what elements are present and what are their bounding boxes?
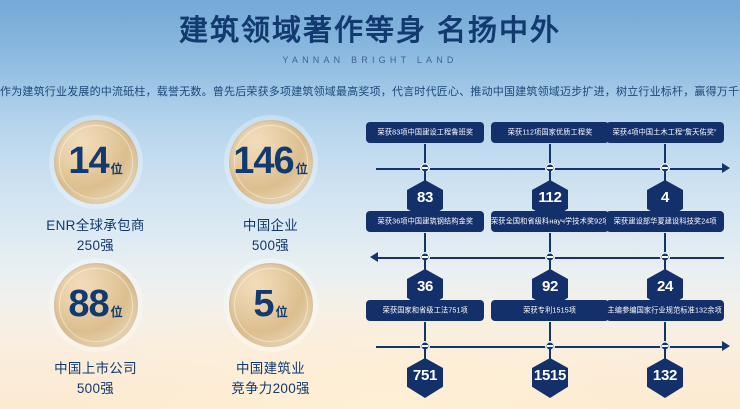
stat-label-line2: 250强 (46, 236, 144, 256)
award-card: 荣获建设部华夏建设科技奖24项 (606, 211, 724, 232)
award-badge: 132 (647, 358, 683, 398)
stat-item: 146 位 中国企业 500强 (183, 120, 358, 263)
award-card-text: 荣获全国和省级科науч学技术奖92项 (491, 216, 610, 226)
stat-label: ENR全球承包商 250强 (46, 216, 144, 256)
award-badge-value: 1515 (534, 367, 566, 384)
stat-label-line1: 中国建筑业 (231, 359, 310, 379)
timeline-node[interactable]: 主编参编国家行业规范标准132余项 132 (606, 300, 724, 321)
stat-label-line2: 500强 (243, 236, 298, 256)
stat-unit: 位 (276, 306, 288, 318)
award-card-text: 荣获建设部华夏建设科技奖24项 (614, 216, 717, 226)
stat-label-line1: 中国企业 (243, 216, 298, 236)
stat-item: 5 位 中国建筑业 竞争力200强 (183, 263, 358, 406)
award-card: 荣获36项中国建筑钢结构金奖 (366, 211, 484, 232)
award-badge-value: 4 (661, 189, 669, 206)
lead-paragraph: 作为建筑行业发展的中流砥柱，载誉无数。曾先后荣获多项建筑领域最高奖项，代言时代匠… (0, 84, 740, 100)
award-badge-value: 83 (417, 189, 433, 206)
stat-coin: 5 位 (229, 263, 313, 347)
stat-label: 中国企业 500强 (243, 216, 298, 256)
award-card-text: 荣获36项中国建筑钢结构金奖 (377, 216, 473, 226)
award-card: 荣获全国和省级科науч学技术奖92项 (491, 211, 609, 232)
timeline-node[interactable]: 荣获建设部华夏建设科技奖24项 24 (606, 211, 724, 232)
award-card-text: 荣获83项中国建设工程鲁班奖 (377, 127, 473, 137)
award-badge-value: 36 (417, 278, 433, 295)
page-title: 建筑领域著作等身 名扬中外 (0, 14, 740, 48)
timeline-node[interactable]: 荣获112项国家优质工程奖 112 (491, 122, 609, 143)
stat-coin: 146 位 (229, 120, 313, 204)
stats-grid: 14 位 ENR全球承包商 250强 146 位 中国企业 500强 (8, 120, 358, 405)
award-card-text: 主编参编国家行业规范标准132余项 (608, 305, 722, 315)
promo-banner: 建筑领域著作等身 名扬中外 YANNAN BRIGHT LAND 作为建筑行业发… (0, 0, 740, 409)
timeline-row: 荣获36项中国建筑钢结构金奖 36 荣获全国和省级科науч学技术奖92项 92 (368, 211, 732, 300)
award-card-text: 荣获4项中国土木工程“詹天佑奖” (613, 127, 717, 137)
timeline-node[interactable]: 荣获83项中国建设工程鲁班奖 83 (366, 122, 484, 143)
stat-label-line2: 竞争力200强 (231, 379, 310, 399)
timeline-row: 荣获国家和省级工法751项 751 荣获专利1515项 1515 (368, 300, 732, 389)
stat-number: 5 (253, 285, 273, 323)
award-badge-value: 24 (657, 278, 673, 295)
timeline-node[interactable]: 荣获4项中国土木工程“詹天佑奖” 4 (606, 122, 724, 143)
stat-label: 中国上市公司 500强 (54, 359, 137, 399)
award-card: 荣获专利1515项 (491, 300, 609, 321)
timeline-node[interactable]: 荣获专利1515项 1515 (491, 300, 609, 321)
awards-timeline: 荣获83项中国建设工程鲁班奖 83 荣获112项国家优质工程奖 112 (368, 122, 732, 400)
award-badge: 1515 (532, 358, 568, 398)
award-card: 主编参编国家行业规范标准132余项 (606, 300, 724, 321)
stat-label: 中国建筑业 竞争力200强 (231, 359, 310, 399)
stat-label-line2: 500强 (54, 379, 137, 399)
page-subtitle-english: YANNAN BRIGHT LAND (0, 55, 740, 65)
stat-coin: 88 位 (54, 263, 138, 347)
award-card: 荣获4项中国土木工程“詹天佑奖” (606, 122, 724, 143)
award-badge-value: 751 (413, 367, 437, 384)
stat-unit: 位 (111, 163, 123, 175)
award-card-text: 荣获112项国家优质工程奖 (508, 127, 593, 137)
arrow-right-icon (722, 163, 730, 173)
award-card-text: 荣获国家和省级工法751项 (382, 305, 467, 315)
stat-number: 88 (68, 285, 108, 323)
award-card: 荣获83项中国建设工程鲁班奖 (366, 122, 484, 143)
stat-coin: 14 位 (54, 120, 138, 204)
award-card: 荣获国家和省级工法751项 (366, 300, 484, 321)
timeline-node[interactable]: 荣获全国和省级科науч学技术奖92项 92 (491, 211, 609, 232)
award-badge-value: 132 (653, 367, 677, 384)
timeline-row: 荣获83项中国建设工程鲁班奖 83 荣获112项国家优质工程奖 112 (368, 122, 732, 211)
stat-number: 146 (233, 142, 293, 180)
stat-label-line1: 中国上市公司 (54, 359, 137, 379)
header-block: 建筑领域著作等身 名扬中外 YANNAN BRIGHT LAND (0, 14, 740, 65)
stat-item: 88 位 中国上市公司 500强 (8, 263, 183, 406)
award-badge-value: 92 (542, 278, 558, 295)
stat-number: 14 (68, 142, 108, 180)
stat-unit: 位 (111, 306, 123, 318)
stat-unit: 位 (296, 163, 308, 175)
award-badge-value: 112 (538, 189, 561, 206)
award-card: 荣获112项国家优质工程奖 (491, 122, 609, 143)
award-badge: 751 (407, 358, 443, 398)
award-card-text: 荣获专利1515项 (524, 305, 577, 315)
timeline-node[interactable]: 荣获国家和省级工法751项 751 (366, 300, 484, 321)
timeline-node[interactable]: 荣获36项中国建筑钢结构金奖 36 (366, 211, 484, 232)
stat-label-line1: ENR全球承包商 (46, 216, 144, 236)
stat-item: 14 位 ENR全球承包商 250强 (8, 120, 183, 263)
arrow-right-icon (722, 341, 730, 351)
arrow-left-icon (370, 252, 378, 262)
